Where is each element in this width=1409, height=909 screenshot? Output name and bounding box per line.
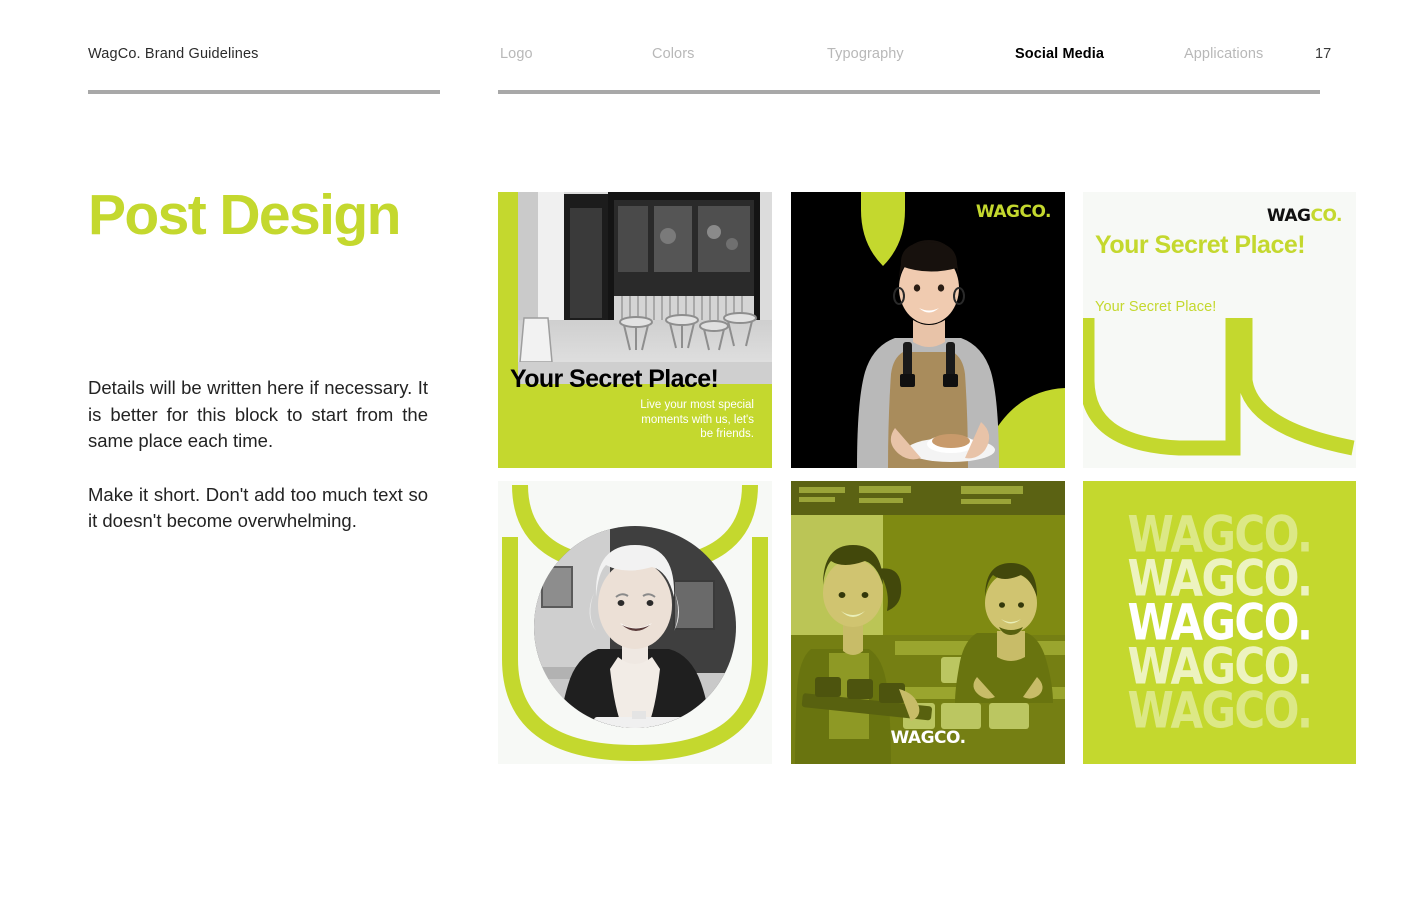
card1-caption: Live your most special moments with us, …	[634, 398, 754, 442]
page-header: WagCo. Brand Guidelines Logo Colors Typo…	[88, 46, 1321, 76]
section-nav: Logo Colors Typography Social Media Appl…	[500, 46, 1321, 68]
wagco-logo-part-co: CO.	[1310, 206, 1342, 226]
body-copy: Details will be written here if necessar…	[88, 375, 428, 535]
wagco-logo: WAGCO.	[976, 204, 1051, 222]
nav-item-social-media[interactable]: Social Media	[1015, 46, 1104, 62]
wagco-logo-text: WAGCO.	[890, 728, 965, 748]
barista-photo	[791, 192, 1065, 468]
duotone-counter-photo	[791, 481, 1065, 764]
nav-item-typography[interactable]: Typography	[827, 46, 904, 62]
wagco-logo-part-wag: WAG	[1267, 206, 1311, 226]
bowl-graphic-icon	[1083, 308, 1356, 468]
wagco-logo: WAGCO.	[1267, 208, 1342, 226]
wagco-logo: WAGCO.	[890, 730, 965, 748]
header-rule-left	[88, 90, 440, 94]
body-paragraph-1: Details will be written here if necessar…	[88, 375, 428, 455]
post-card-wordmark-repeat[interactable]: WAGCO. WAGCO. WAGCO. WAGCO. WAGCO.	[1083, 481, 1356, 764]
brand-label: WagCo. Brand Guidelines	[88, 46, 259, 62]
wordmark-line-5: WAGCO.	[1128, 686, 1312, 736]
post-card-typographic[interactable]: WAGCO. Your Secret Place! Your Secret Pl…	[1083, 192, 1356, 468]
nav-item-logo[interactable]: Logo	[500, 46, 533, 62]
body-paragraph-2: Make it short. Don't add too much text s…	[88, 482, 428, 535]
post-design-grid: Your Secret Place! Live your most specia…	[498, 192, 1356, 764]
header-rule-right	[498, 90, 1320, 94]
page-title: Post Design	[88, 186, 400, 246]
wagco-logo-text: WAGCO.	[976, 202, 1051, 222]
post-card-storefront[interactable]: Your Secret Place! Live your most specia…	[498, 192, 772, 468]
nav-item-colors[interactable]: Colors	[652, 46, 695, 62]
storefront-photo	[518, 192, 772, 384]
post-card-portrait[interactable]	[498, 481, 772, 764]
page-number: 17	[1315, 46, 1331, 62]
post-card-barista[interactable]: WAGCO.	[791, 192, 1065, 468]
nav-item-applications[interactable]: Applications	[1184, 46, 1263, 62]
card3-headline: Your Secret Place!	[1095, 230, 1305, 261]
card1-headline: Your Secret Place!	[510, 364, 718, 394]
post-card-duotone-counter[interactable]: WAGCO.	[791, 481, 1065, 764]
wordmark-stack: WAGCO. WAGCO. WAGCO. WAGCO. WAGCO.	[1083, 481, 1356, 764]
